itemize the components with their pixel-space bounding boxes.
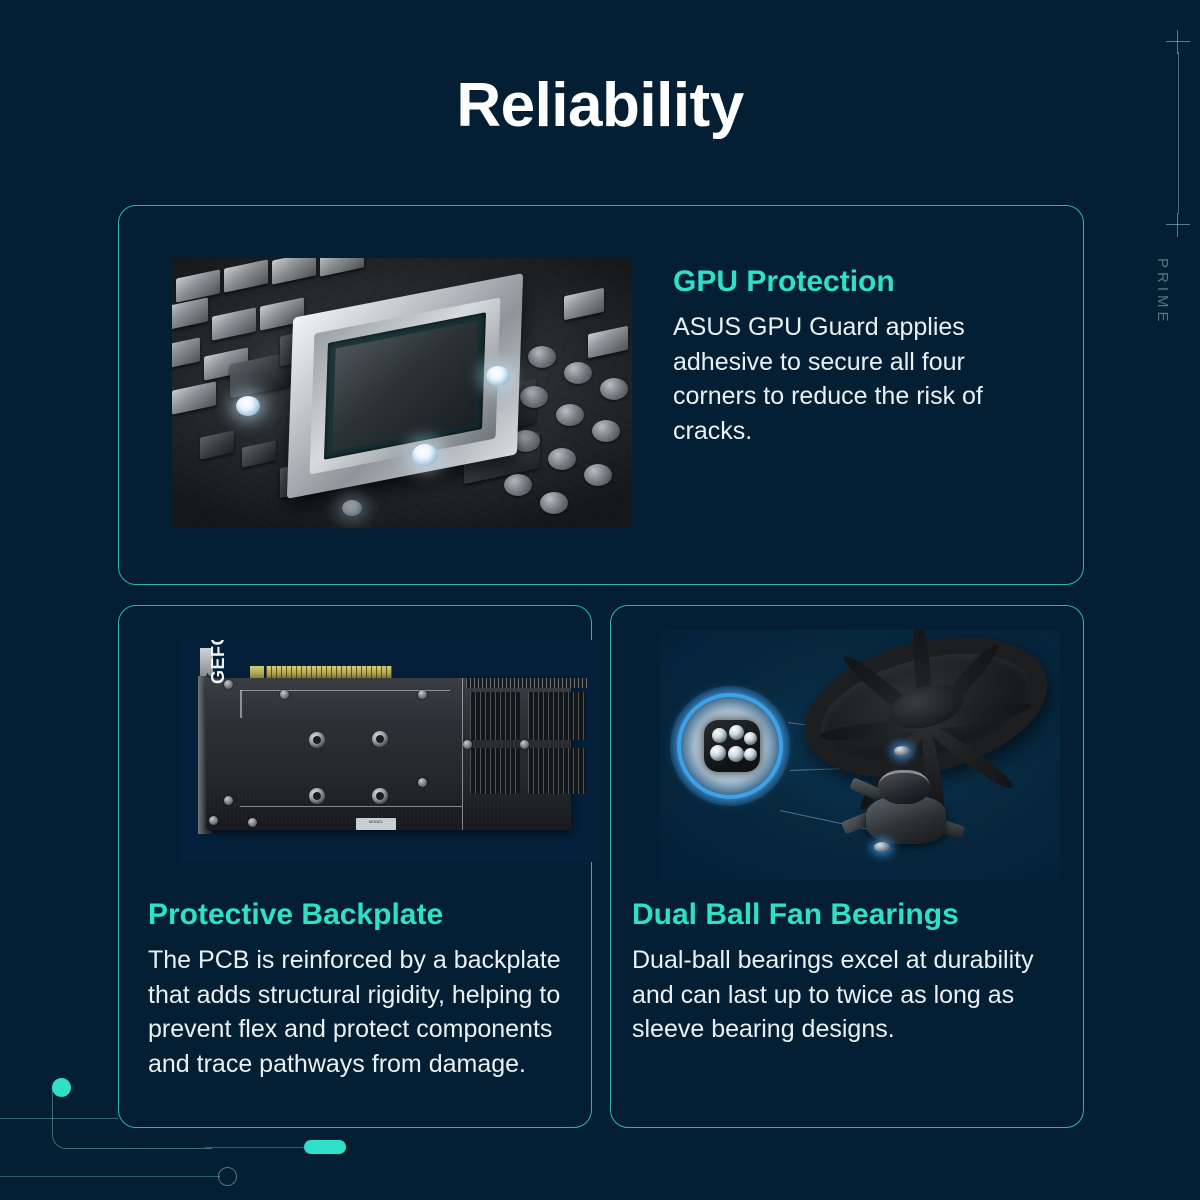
mounting-screw <box>209 816 218 825</box>
fan-assembly <box>802 642 1050 772</box>
capacitor <box>600 378 628 400</box>
fan-bearing-image <box>660 630 1060 880</box>
crosshair-marker-top-icon <box>1166 30 1190 54</box>
capacitor <box>592 420 620 442</box>
pcie-contacts <box>266 666 392 678</box>
feature-body-protective-backplate: The PCB is reinforced by a backplate tha… <box>148 943 580 1081</box>
capacitor <box>504 474 532 496</box>
deco-elbow-trace <box>52 1087 212 1149</box>
bearing-housing <box>878 770 930 804</box>
bearing-ball <box>712 728 727 743</box>
adhesive-drop <box>486 366 510 386</box>
panel-split <box>462 678 463 830</box>
capacitor <box>556 404 584 426</box>
pcie-edge-small <box>250 666 264 678</box>
crosshair-marker-bottom-icon <box>1166 213 1190 237</box>
poster-root: Reliability <box>0 0 1200 1200</box>
bearing-ball <box>728 746 744 762</box>
gpu-die-ring <box>324 312 486 459</box>
deco-line-lower <box>0 1176 220 1177</box>
vent-panel <box>528 748 586 794</box>
feature-title-dual-ball-fan-bearings: Dual Ball Fan Bearings <box>632 898 1062 932</box>
pcie-connector <box>266 666 392 678</box>
capacitor <box>584 464 612 486</box>
feature-title-gpu-protection: GPU Protection <box>673 265 1053 299</box>
mounting-screw <box>248 818 257 827</box>
motor-assembly <box>856 768 950 848</box>
capacitor <box>540 492 568 514</box>
capacitor <box>564 362 592 384</box>
gpu-ihs-inner <box>310 297 501 474</box>
capacitor <box>548 448 576 470</box>
geforce-rtx-branding: GEFORCE RTX <box>208 640 230 684</box>
bearing-bottom <box>874 842 890 852</box>
capacitor <box>520 386 548 408</box>
edge-rule <box>1178 52 1179 214</box>
vent-panel <box>470 748 520 794</box>
prime-vertical-label: PRIME <box>1154 258 1171 326</box>
page-title: Reliability <box>0 70 1200 141</box>
adhesive-drop <box>236 396 260 416</box>
standoff-screw <box>309 732 325 748</box>
mounting-screw <box>280 690 289 699</box>
deco-pill <box>304 1140 346 1154</box>
deco-node-circle <box>218 1167 237 1186</box>
standoff-screw <box>372 788 388 804</box>
vent-panel <box>470 692 520 740</box>
mounting-screw <box>418 690 427 699</box>
feature-title-protective-backplate: Protective Backplate <box>148 898 578 932</box>
panel-edge <box>240 690 242 718</box>
adhesive-drop <box>342 500 362 516</box>
bearing-ball <box>710 745 726 761</box>
backplate-image: GEFORCE RTX MODEL <box>180 640 600 862</box>
bearing-top <box>894 746 910 756</box>
adhesive-drop <box>412 444 438 466</box>
bearing-ball <box>729 725 744 740</box>
feature-body-dual-ball-fan-bearings: Dual-ball bearings excel at durability a… <box>632 943 1072 1047</box>
deco-node-dot <box>52 1078 71 1097</box>
standoff-screw <box>372 731 388 747</box>
gpu-die <box>332 321 478 451</box>
standoff-screw <box>309 788 325 804</box>
model-label: MODEL <box>356 818 396 830</box>
bearing-ball <box>744 748 757 761</box>
bearing-ball <box>744 732 757 745</box>
mounting-screw <box>463 740 472 749</box>
mounting-screw <box>418 778 427 787</box>
feature-body-gpu-protection: ASUS GPU Guard applies adhesive to secur… <box>673 310 1015 448</box>
mounting-screw <box>224 796 233 805</box>
gpu-die-image <box>172 258 632 528</box>
vent-panel <box>528 692 586 740</box>
magnified-bearing <box>704 720 760 772</box>
mounting-screw <box>520 740 529 749</box>
deco-line-mid <box>205 1147 310 1148</box>
panel-edge <box>240 806 462 807</box>
capacitor <box>528 346 556 368</box>
vent-panel <box>466 678 588 688</box>
